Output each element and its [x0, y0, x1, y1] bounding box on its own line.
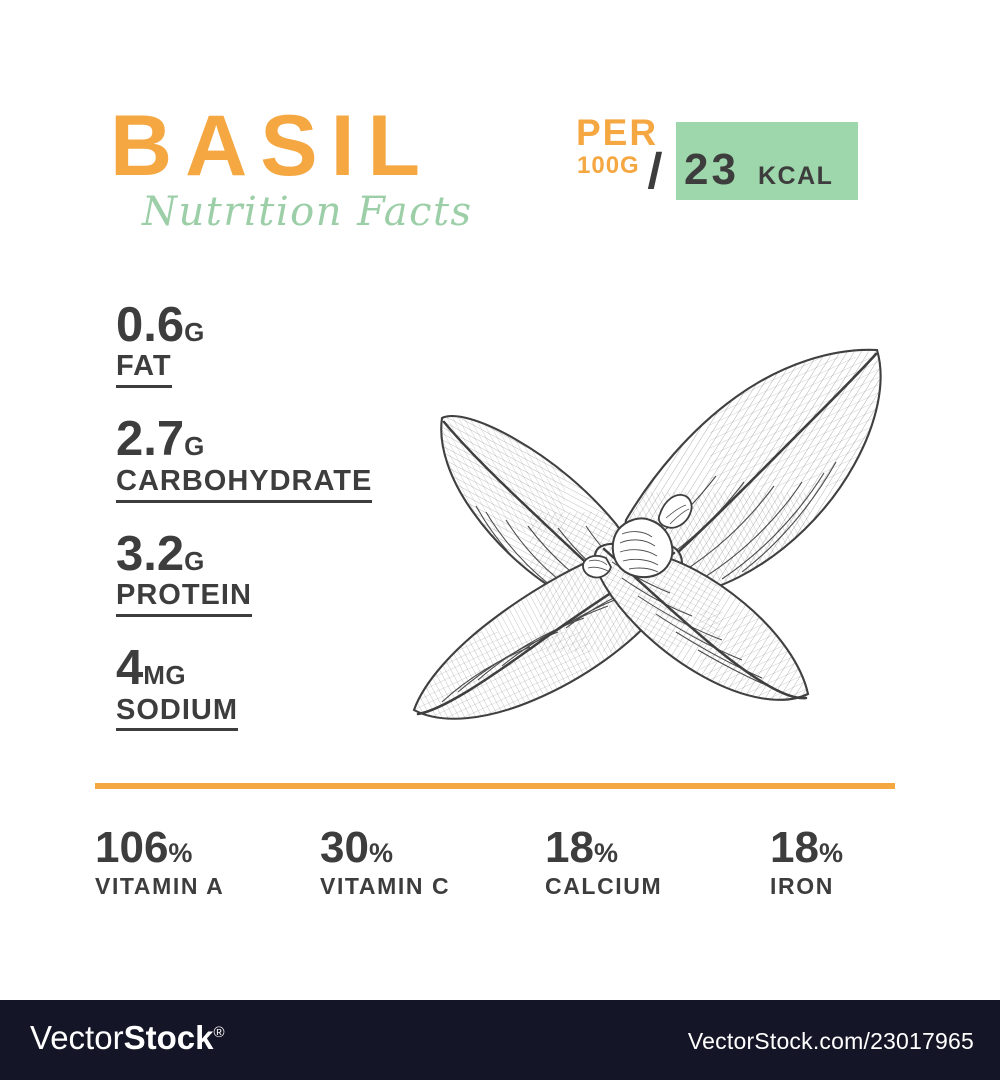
vitamin-amount: 106 — [95, 823, 168, 872]
vitamin-mineral-row: 106% VITAMIN A 30% VITAMIN C 18% CALCIUM… — [95, 826, 925, 899]
vitamin-unit: % — [168, 838, 192, 868]
page-title: BASIL — [110, 104, 540, 188]
separator-slash: / — [647, 146, 663, 196]
macro-amount: 0.6 — [116, 298, 184, 352]
macro-label: SODIUM — [116, 695, 238, 732]
registered-trademark-icon: ® — [213, 1024, 224, 1041]
vitamin-value: 18% — [545, 826, 770, 871]
infographic-canvas: BASIL Nutrition Facts PER 100G / 23 KCAL… — [0, 0, 1000, 1000]
vitamin-amount: 18 — [770, 823, 819, 872]
vitamin-unit: % — [369, 838, 393, 868]
vitamin-col-calcium: 18% CALCIUM — [545, 826, 770, 899]
vitamin-col-iron: 18% IRON — [770, 826, 843, 899]
vectorstock-logo: VectorStock® — [30, 1021, 225, 1054]
macro-unit: MG — [143, 660, 186, 690]
page-subtitle: Nutrition Facts — [142, 192, 540, 232]
logo-text-vector: Vector — [30, 1019, 124, 1056]
logo-text-stock: Stock — [124, 1019, 214, 1056]
vitamin-label: VITAMIN C — [320, 873, 545, 899]
vitamin-col-vitamin-c: 30% VITAMIN C — [320, 826, 545, 899]
basil-leaf-illustration — [330, 262, 930, 762]
watermark-footer-bar: VectorStock® VectorStock.com/23017965 — [0, 1000, 1000, 1080]
vitamin-value: 106% — [95, 826, 320, 871]
macro-amount: 3.2 — [116, 527, 184, 581]
per-weight-label: 100G — [577, 154, 640, 178]
vitamin-value: 30% — [320, 826, 545, 871]
macro-unit: G — [184, 431, 205, 461]
vitamin-amount: 30 — [320, 823, 369, 872]
calories-value: 23 — [684, 148, 739, 192]
macro-amount: 4 — [116, 641, 143, 695]
title-block: BASIL Nutrition Facts — [110, 104, 540, 232]
vitamin-label: IRON — [770, 873, 843, 899]
serving-badge: PER 100G / 23 KCAL — [576, 112, 876, 208]
vitamin-unit: % — [819, 838, 843, 868]
calories-unit: KCAL — [758, 164, 833, 189]
vitamin-label: CALCIUM — [545, 873, 770, 899]
vitamin-label: VITAMIN A — [95, 873, 320, 899]
macro-amount: 2.7 — [116, 412, 184, 466]
watermark-url: VectorStock.com/23017965 — [688, 1030, 974, 1053]
section-divider — [95, 783, 895, 789]
vitamin-col-vitamin-a: 106% VITAMIN A — [95, 826, 320, 899]
vitamin-amount: 18 — [545, 823, 594, 872]
per-label: PER — [576, 114, 658, 151]
macro-label: FAT — [116, 351, 172, 388]
macro-unit: G — [184, 546, 205, 576]
macro-label: PROTEIN — [116, 580, 252, 617]
vitamin-value: 18% — [770, 826, 843, 871]
macro-unit: G — [184, 317, 205, 347]
vitamin-unit: % — [594, 838, 618, 868]
